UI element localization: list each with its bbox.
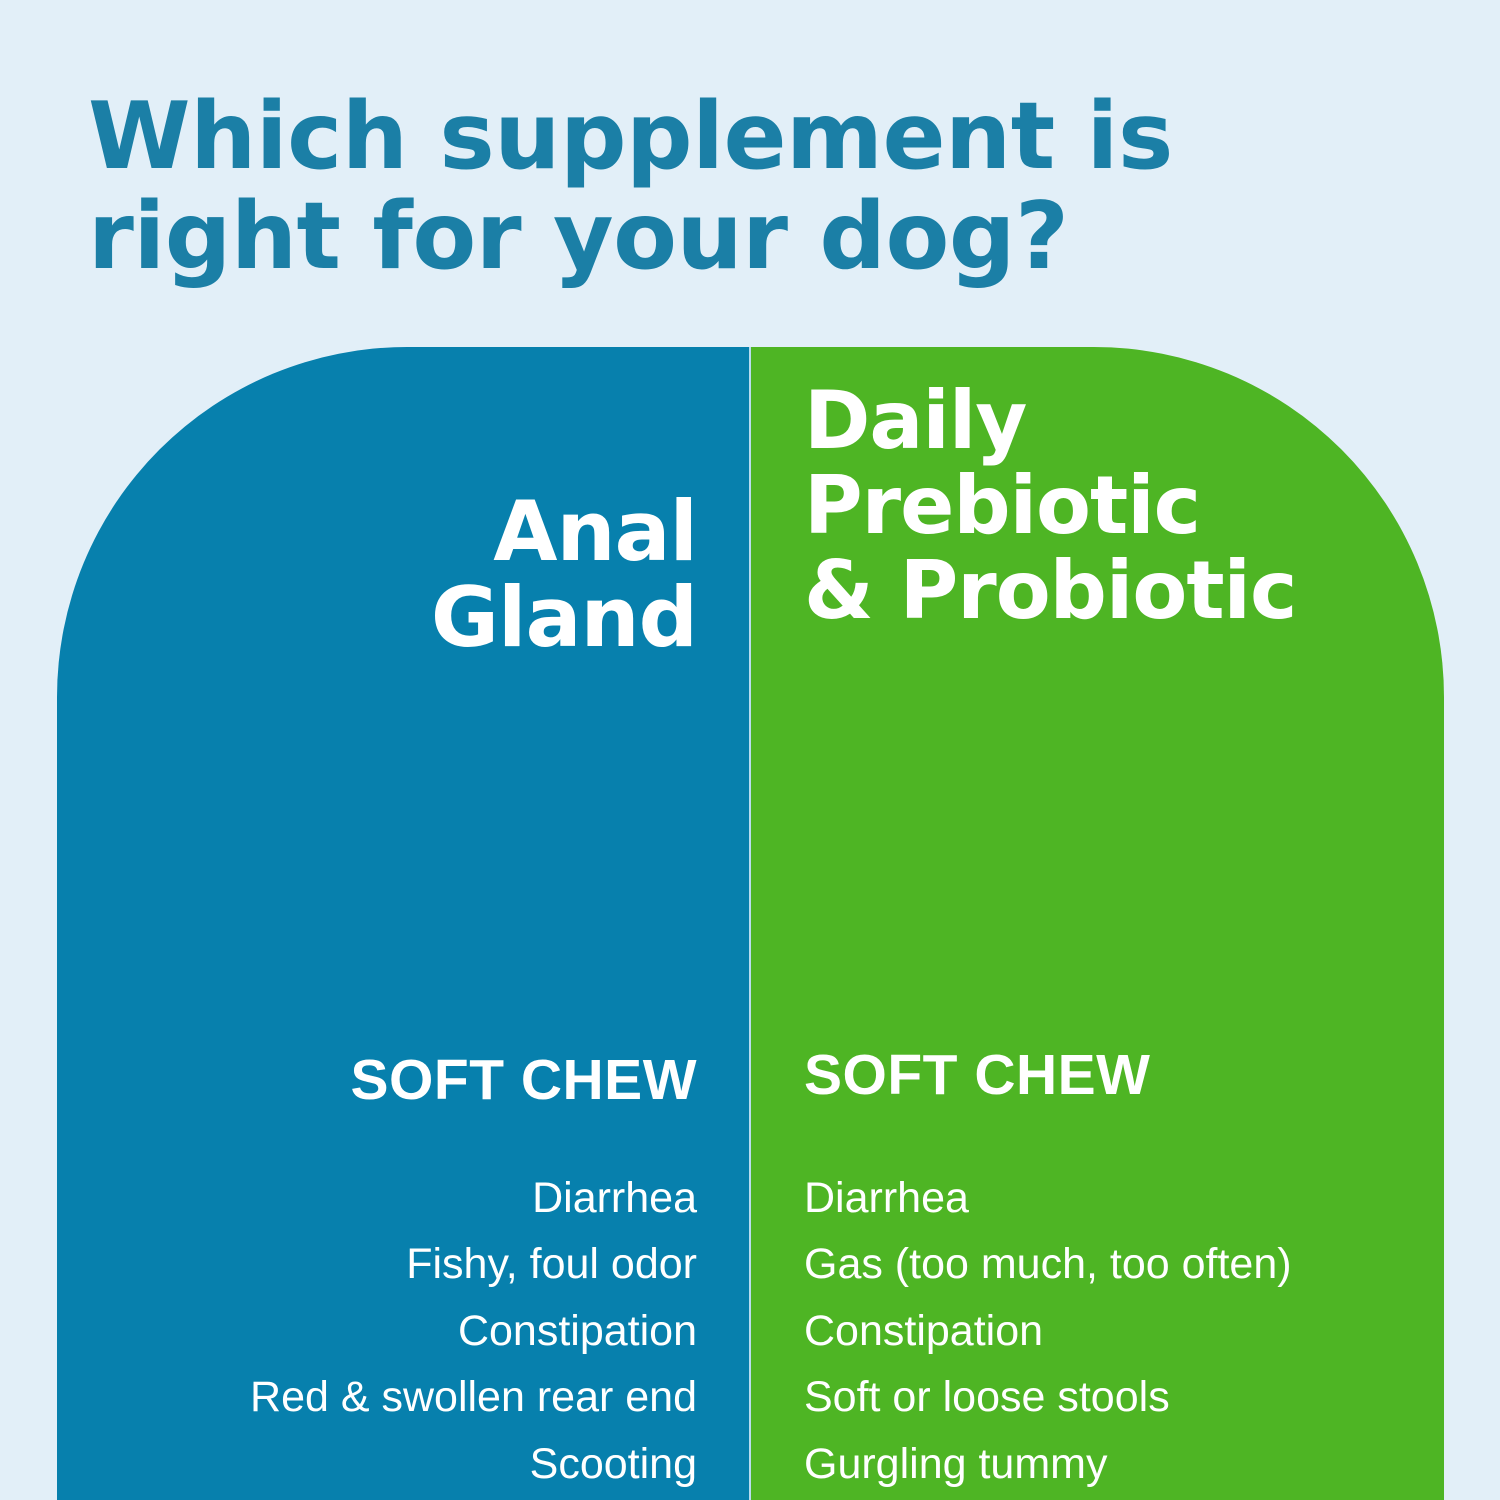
infographic-root: Which supplement is right for your dog? … xyxy=(0,0,1500,1500)
page-title: Which supplement is right for your dog? xyxy=(88,86,1268,287)
list-item: Diarrhea xyxy=(804,1165,1444,1231)
panel-prebiotic-probiotic-content: Daily Prebiotic & Probiotic SOFT CHEW Di… xyxy=(751,347,1444,1500)
list-item: Red & swollen rear end xyxy=(67,1364,697,1430)
panel-anal-gland-content: Anal Gland SOFT CHEW DiarrheaFishy, foul… xyxy=(57,347,749,1500)
panel-prebiotic-probiotic: Daily Prebiotic & Probiotic SOFT CHEW Di… xyxy=(751,347,1444,1500)
list-item: Fishy, foul odor xyxy=(67,1231,697,1297)
list-item: Gurgling tummy xyxy=(804,1431,1444,1497)
comparison-panels: Anal Gland SOFT CHEW DiarrheaFishy, foul… xyxy=(57,347,1444,1500)
panel-anal-gland: Anal Gland SOFT CHEW DiarrheaFishy, foul… xyxy=(57,347,749,1500)
product-subtitle-anal-gland: SOFT CHEW xyxy=(77,1052,697,1109)
symptom-list-prebiotic-probiotic: DiarrheaGas (too much, too often)Constip… xyxy=(804,1165,1444,1500)
list-item: Constipation xyxy=(67,1298,697,1364)
list-item: Gas (too much, too often) xyxy=(804,1231,1444,1297)
product-title-anal-gland: Anal Gland xyxy=(77,489,697,662)
panel-divider xyxy=(749,347,751,1500)
symptom-list-anal-gland: DiarrheaFishy, foul odorConstipationRed … xyxy=(67,1165,697,1500)
list-item: Diarrhea xyxy=(67,1165,697,1231)
list-item: Scooting xyxy=(67,1431,697,1497)
product-title-prebiotic-probiotic: Daily Prebiotic & Probiotic xyxy=(804,379,1444,633)
list-item: Soft or loose stools xyxy=(804,1364,1444,1430)
product-subtitle-prebiotic-probiotic: SOFT CHEW xyxy=(804,1047,1444,1104)
list-item: Constipation xyxy=(804,1298,1444,1364)
